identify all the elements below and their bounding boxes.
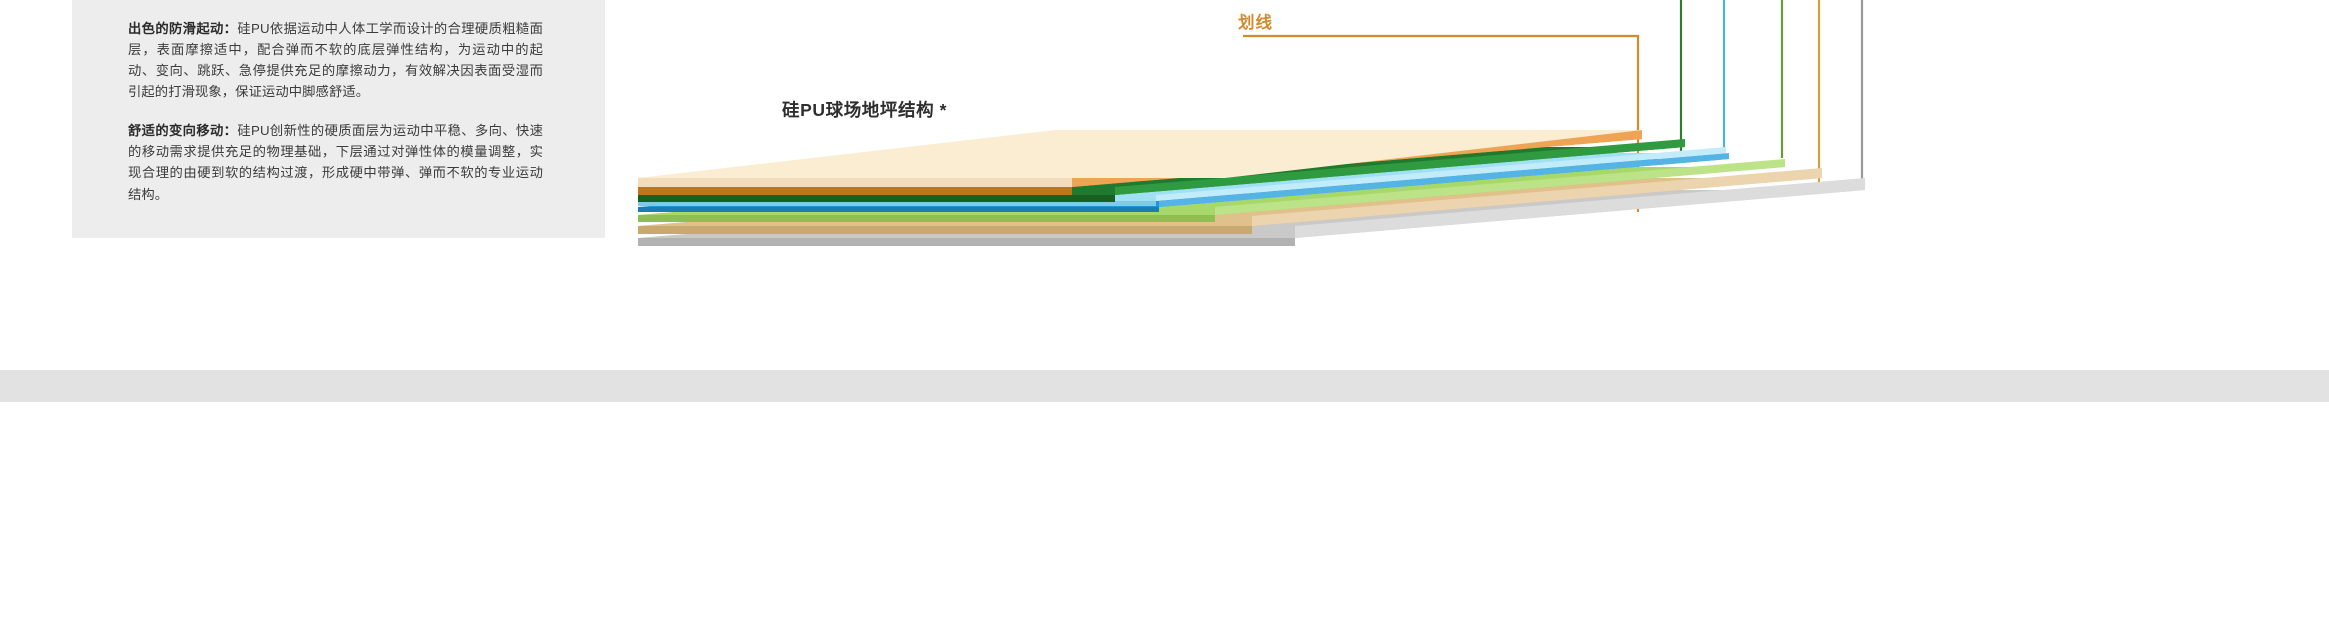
- callout-label-marking-line: 划线: [1238, 9, 1273, 33]
- footer-band: [0, 370, 2329, 402]
- isometric-layers-svg: [600, 0, 2329, 330]
- paragraph-2-lead: 舒适的变向移动：: [128, 123, 237, 138]
- court-structure-diagram: 划线 硅PU球场地坪结构 *: [600, 0, 2329, 330]
- paragraph-1: 出色的防滑起动：硅PU依据运动中人体工学而设计的合理硬质粗糙面层，表面摩擦适中，…: [128, 18, 543, 103]
- diagram-title: 硅PU球场地坪结构 *: [782, 97, 947, 122]
- footer-white-area: [0, 402, 2329, 619]
- product-description-panel: 通过加强层形成向上的高回弹力，有效缓减地面对脚踝、关节、韧带的反作用力所造成的运…: [72, 0, 605, 238]
- paragraph-2: 舒适的变向移动：硅PU创新性的硬质面层为运动中平稳、多向、快速的移动需求提供充足…: [128, 120, 543, 205]
- paragraph-0: 通过加强层形成向上的高回弹力，有效缓减地面对脚踝、关节、韧带的反作用力所造成的运…: [128, 0, 543, 1]
- paragraph-1-lead: 出色的防滑起动：: [128, 21, 237, 36]
